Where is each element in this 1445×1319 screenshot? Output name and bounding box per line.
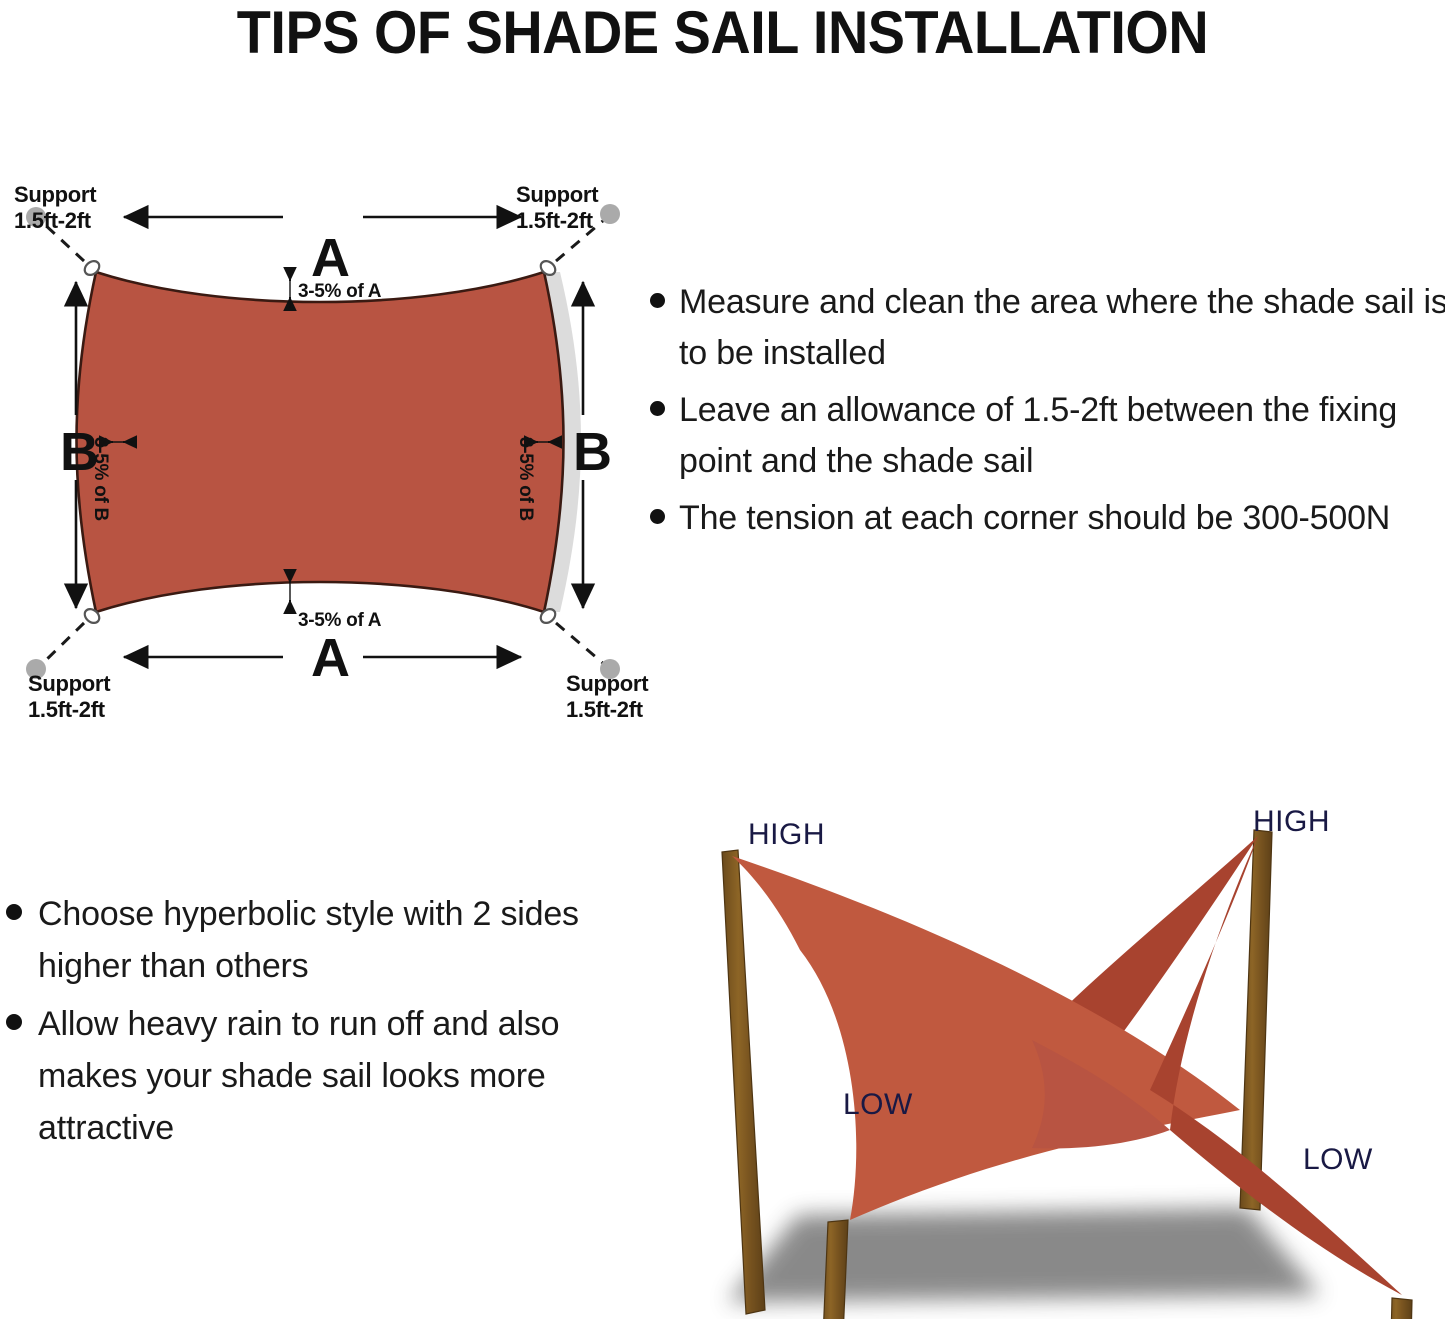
bullet-icon (650, 401, 665, 416)
support-label-line2: 1.5ft-2ft (28, 697, 110, 723)
support-dot-top-right (600, 204, 620, 224)
dash-bottom-left (42, 623, 84, 664)
tip-text: Choose hyperbolic style with 2 sides hig… (38, 888, 626, 992)
support-label-bottom-left: Support 1.5ft-2ft (28, 671, 110, 723)
post-left-high (722, 850, 765, 1314)
post-label-right-high: HIGH (1253, 805, 1330, 839)
dash-bottom-right (556, 623, 604, 664)
support-label-line1: Support (28, 671, 110, 697)
list-item: Allow heavy rain to run off and also mak… (6, 998, 626, 1154)
tip-text: The tension at each corner should be 300… (679, 493, 1445, 544)
sail-lobe-left (732, 856, 1240, 1220)
curvature-label-right: 3-5% of B (514, 437, 536, 521)
support-label-bottom-right: Support 1.5ft-2ft (566, 671, 648, 723)
tip-text: Leave an allowance of 1.5-2ft between th… (679, 385, 1445, 487)
hyperbolic-sail-illustration (680, 790, 1445, 1319)
support-label-line2: 1.5ft-2ft (14, 208, 96, 234)
hyperbolic-style-tips-list: Choose hyperbolic style with 2 sides hig… (6, 888, 626, 1160)
support-label-line1: Support (566, 671, 648, 697)
ground-shadow (728, 1208, 1320, 1302)
bullet-icon (6, 1014, 22, 1030)
tip-text: Allow heavy rain to run off and also mak… (38, 998, 626, 1154)
post-label-right-low: LOW (1303, 1143, 1373, 1177)
support-label-line1: Support (516, 182, 598, 208)
tip-text: Measure and clean the area where the sha… (679, 277, 1445, 379)
curvature-label-bottom: 3-5% of A (298, 610, 381, 632)
dimension-letter-A-top: A (311, 231, 350, 285)
post-right-low (1386, 1298, 1412, 1319)
post-right-high (1240, 830, 1272, 1210)
bullet-icon (650, 509, 665, 524)
installation-tips-list: Measure and clean the area where the sha… (650, 277, 1445, 550)
support-label-top-right: Support 1.5ft-2ft (516, 182, 598, 234)
support-label-top-left: Support 1.5ft-2ft (14, 182, 96, 234)
bullet-icon (650, 293, 665, 308)
curvature-label-left: 3-5% of B (89, 437, 111, 521)
page-title: TIPS OF SHADE SAIL INSTALLATION (51, 2, 1395, 64)
dimension-letter-A-bottom: A (311, 631, 350, 685)
list-item: Choose hyperbolic style with 2 sides hig… (6, 888, 626, 992)
curvature-label-top: 3-5% of A (298, 281, 381, 303)
infographic-page: TIPS OF SHADE SAIL INSTALLATION (0, 0, 1445, 1319)
list-item: Measure and clean the area where the sha… (650, 277, 1445, 379)
support-label-line2: 1.5ft-2ft (566, 697, 648, 723)
support-label-line2: 1.5ft-2ft (516, 208, 598, 234)
sail-body (77, 272, 564, 612)
post-label-left-high: HIGH (748, 818, 825, 852)
support-label-line1: Support (14, 182, 96, 208)
bullet-icon (6, 904, 22, 920)
dimension-letter-B-right: B (573, 425, 612, 479)
post-label-left-low: LOW (843, 1088, 913, 1122)
list-item: Leave an allowance of 1.5-2ft between th… (650, 385, 1445, 487)
list-item: The tension at each corner should be 300… (650, 493, 1445, 544)
